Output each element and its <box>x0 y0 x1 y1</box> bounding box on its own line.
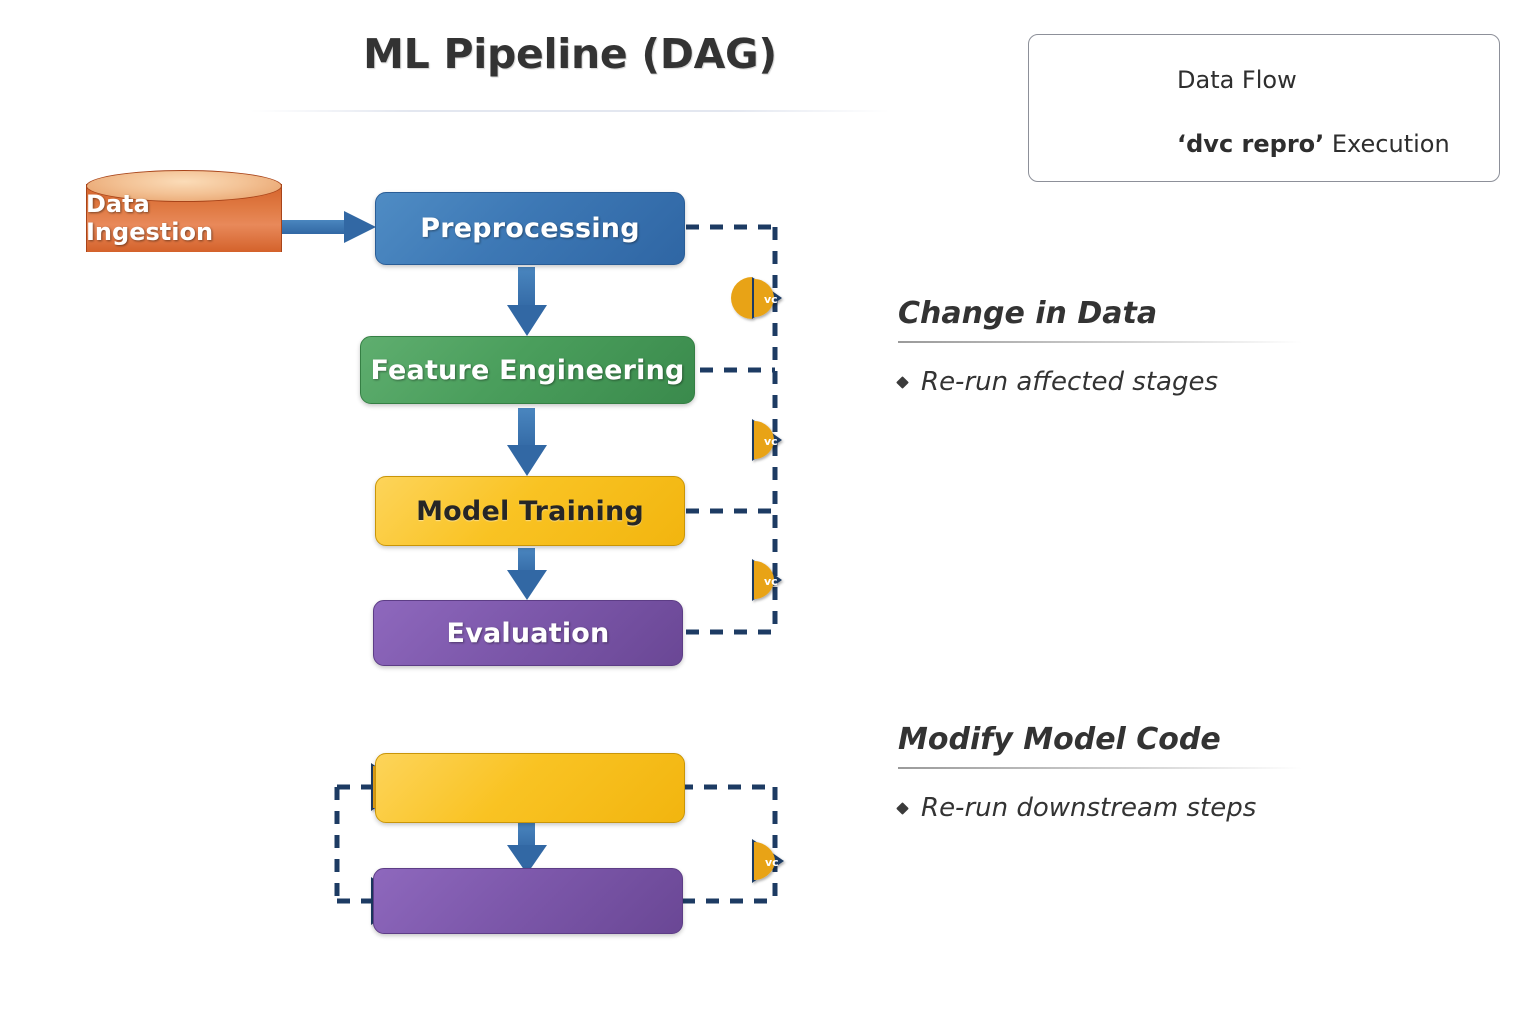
svg-text:vc: vc <box>764 293 778 306</box>
legend-label-data-flow: Data Flow <box>1177 66 1297 94</box>
legend-item-data-flow: Data Flow <box>1029 57 1499 103</box>
legend-label-dvc-repro-suffix: Execution <box>1324 130 1449 158</box>
arrow-preprocessing-to-feature <box>507 267 547 336</box>
node-preprocessing-label: Preprocessing <box>420 213 639 244</box>
data-ingestion-cylinder[interactable]: Data Ingestion <box>86 170 282 266</box>
note-change-in-data: Change in Data Re-run affected stages <box>898 296 1302 397</box>
arrow-training-to-evaluation <box>507 548 547 600</box>
svg-text:vc: vc <box>765 856 779 869</box>
node-evaluation[interactable]: Evaluation <box>373 600 683 666</box>
svg-text:vc: vc <box>764 435 778 448</box>
diamond-bullet-icon <box>896 376 909 389</box>
page-title: ML Pipeline (DAG) <box>160 30 980 78</box>
legend-label-dvc-repro: ‘dvc repro’ Execution <box>1177 130 1450 158</box>
node-preprocessing[interactable]: Preprocessing <box>375 192 685 265</box>
legend-swatch-data-flow <box>1037 60 1177 100</box>
diamond-bullet-icon <box>896 802 909 815</box>
dvc-arrow-icon: vc <box>752 839 784 883</box>
legend-panel: Data Flow ‘dvc repro’ Execution <box>1028 34 1500 182</box>
data-ingestion-label: Data Ingestion <box>86 170 282 266</box>
legend-item-dvc-repro: ‘dvc repro’ Execution <box>1029 121 1499 167</box>
note-modify-model-code-item: Re-run downstream steps <box>898 793 1302 823</box>
note-modify-model-code: Modify Model Code Re-run downstream step… <box>898 722 1302 823</box>
arrow-lower-yellow-to-purple <box>507 822 547 874</box>
arrow-ingestion-to-preprocessing <box>272 211 376 243</box>
legend-label-dvc-repro-command: ‘dvc repro’ <box>1177 130 1324 158</box>
node-lower-model-training[interactable] <box>375 753 685 823</box>
title-divider <box>250 110 890 112</box>
diagram-canvas: vc vc vc vc vc vc <box>0 0 1536 1024</box>
note-modify-model-code-item-text: Re-run downstream steps <box>921 793 1256 823</box>
legend-swatch-dvc-repro <box>1037 124 1177 164</box>
note-divider <box>898 341 1302 343</box>
note-change-in-data-item: Re-run affected stages <box>898 367 1302 397</box>
svg-text:vc: vc <box>764 575 778 588</box>
node-feature-engineering[interactable]: Feature Engineering <box>360 336 695 404</box>
note-modify-model-code-title: Modify Model Code <box>898 722 1302 757</box>
node-feature-engineering-label: Feature Engineering <box>370 355 684 386</box>
note-divider <box>898 767 1302 769</box>
node-evaluation-label: Evaluation <box>447 618 610 649</box>
node-model-training[interactable]: Model Training <box>375 476 685 546</box>
note-change-in-data-item-text: Re-run affected stages <box>921 367 1218 397</box>
note-change-in-data-title: Change in Data <box>898 296 1302 331</box>
arrow-feature-to-training <box>507 408 547 476</box>
node-lower-evaluation[interactable] <box>373 868 683 934</box>
node-model-training-label: Model Training <box>416 496 644 527</box>
